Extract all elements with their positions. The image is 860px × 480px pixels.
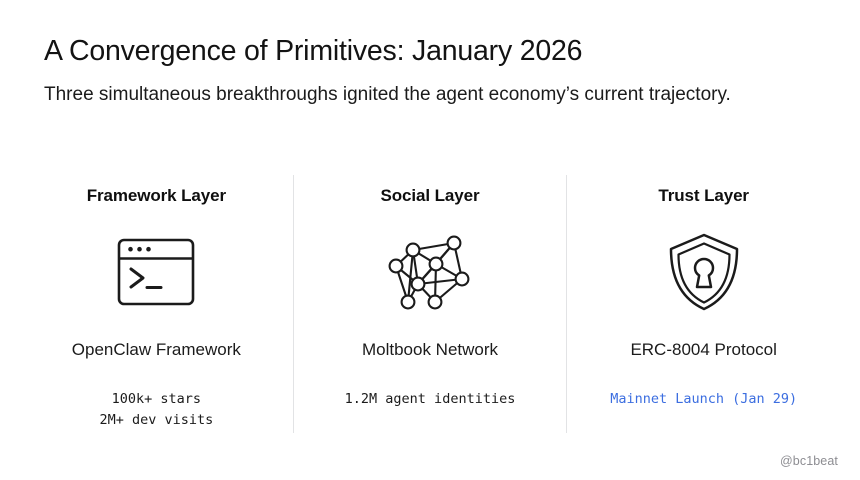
column-name-framework: OpenClaw Framework [72, 339, 241, 361]
column-name-trust: ERC-8004 Protocol [630, 339, 776, 361]
column-stats-social: 1.2M agent identities [345, 389, 516, 410]
column-header-trust: Trust Layer [658, 186, 749, 206]
column-stats-framework: 100k+ stars 2M+ dev visits [99, 389, 213, 431]
slide-header: A Convergence of Primitives: January 202… [44, 34, 804, 108]
column-header-framework: Framework Layer [87, 186, 226, 206]
column-trust-layer: Trust Layer ERC-8004 Protocol Mainnet La… [567, 175, 840, 433]
column-framework-layer: Framework Layer OpenClaw Framework 100k+… [20, 175, 293, 433]
page-title: A Convergence of Primitives: January 202… [44, 34, 804, 69]
watermark-handle: @bc1beat [780, 454, 838, 468]
column-stats-trust[interactable]: Mainnet Launch (Jan 29) [610, 389, 797, 410]
column-name-social: Moltbook Network [362, 339, 498, 361]
shield-keyhole-icon [664, 230, 744, 314]
network-graph-icon [384, 230, 476, 314]
slide-subtitle: Three simultaneous breakthroughs ignited… [44, 82, 744, 108]
column-header-social: Social Layer [381, 186, 480, 206]
three-column-layout: Framework Layer OpenClaw Framework 100k+… [20, 175, 840, 433]
column-social-layer: Social Layer [294, 175, 567, 433]
terminal-window-icon [114, 230, 198, 314]
presentation-slide: A Convergence of Primitives: January 202… [0, 0, 860, 480]
